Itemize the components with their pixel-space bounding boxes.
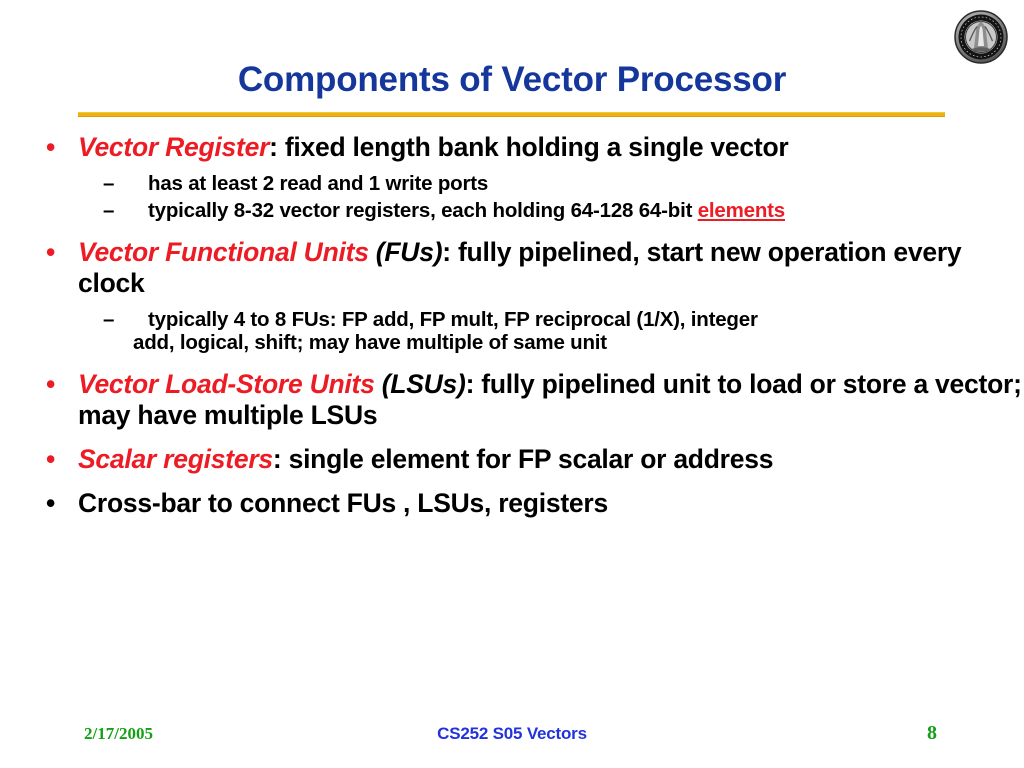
bullet-marker-icon: •	[46, 488, 55, 519]
bullet-text-cross-bar: Cross-bar to connect FUs , LSUs, registe…	[78, 488, 608, 518]
bullet-text-scalar-registers: : single element for FP scalar or addres…	[273, 444, 773, 474]
bullet-marker-icon: •	[46, 444, 55, 475]
subbullet-text-fu-types-line2: add, logical, shift; may have multiple o…	[133, 331, 1024, 355]
bullet-marker-icon: •	[46, 237, 55, 268]
bullet-text-vector-register: : fixed length bank holding a single vec…	[269, 132, 788, 162]
subbullet-marker-icon: –	[103, 199, 114, 223]
elements-link[interactable]: elements	[698, 199, 785, 222]
bullet-vector-register: • Vector Register: fixed length bank hol…	[0, 132, 1024, 163]
bullet-lead-vector-load-store-units: Vector Load-Store Units	[78, 369, 375, 399]
bullet-abbrev-fus: (FUs)	[369, 237, 443, 267]
footer-course-title: CS252 S05 Vectors	[0, 724, 1024, 744]
subbullet-text-fu-types: typically 4 to 8 FUs: FP add, FP mult, F…	[148, 308, 758, 331]
bullet-lead-vector-functional-units: Vector Functional Units	[78, 237, 369, 267]
bullet-scalar-registers: • Scalar registers: single element for F…	[0, 444, 1024, 475]
spacer	[0, 358, 1024, 369]
bullet-lead-scalar-registers: Scalar registers	[78, 444, 273, 474]
slide-title-block: Components of Vector Processor	[0, 62, 1024, 99]
spacer	[0, 477, 1024, 488]
uc-berkeley-seal-logo	[952, 8, 1010, 66]
subbullet-marker-icon: –	[103, 172, 114, 196]
bullet-marker-icon: •	[46, 369, 55, 400]
slide-footer: 2/17/2005 CS252 S05 Vectors 8	[0, 724, 1024, 750]
subbullet-register-count: – typically 8-32 vector registers, each …	[0, 199, 1024, 223]
subbullet-text-register-count: typically 8-32 vector registers, each ho…	[148, 199, 698, 222]
subbullet-fu-types: – typically 4 to 8 FUs: FP add, FP mult,…	[0, 308, 1024, 356]
bullet-vector-functional-units: • Vector Functional Units (FUs): fully p…	[0, 237, 1024, 299]
bullet-marker-icon: •	[46, 132, 55, 163]
slide-body: • Vector Register: fixed length bank hol…	[0, 132, 1024, 521]
bullet-abbrev-lsus: (LSUs)	[375, 369, 466, 399]
spacer	[0, 165, 1024, 172]
subbullet-text-read-write-ports: has at least 2 read and 1 write ports	[148, 172, 488, 195]
subbullet-marker-icon: –	[103, 308, 114, 332]
bullet-lead-vector-register: Vector Register	[78, 132, 269, 162]
page-title: Components of Vector Processor	[0, 62, 1024, 99]
bullet-vector-load-store-units: • Vector Load-Store Units (LSUs): fully …	[0, 369, 1024, 431]
bullet-cross-bar: • Cross-bar to connect FUs , LSUs, regis…	[0, 488, 1024, 519]
spacer	[0, 226, 1024, 237]
subbullet-read-write-ports: – has at least 2 read and 1 write ports	[0, 172, 1024, 196]
spacer	[0, 301, 1024, 308]
footer-page-number: 8	[912, 722, 952, 745]
spacer	[0, 433, 1024, 444]
title-underline-rule	[78, 112, 945, 117]
